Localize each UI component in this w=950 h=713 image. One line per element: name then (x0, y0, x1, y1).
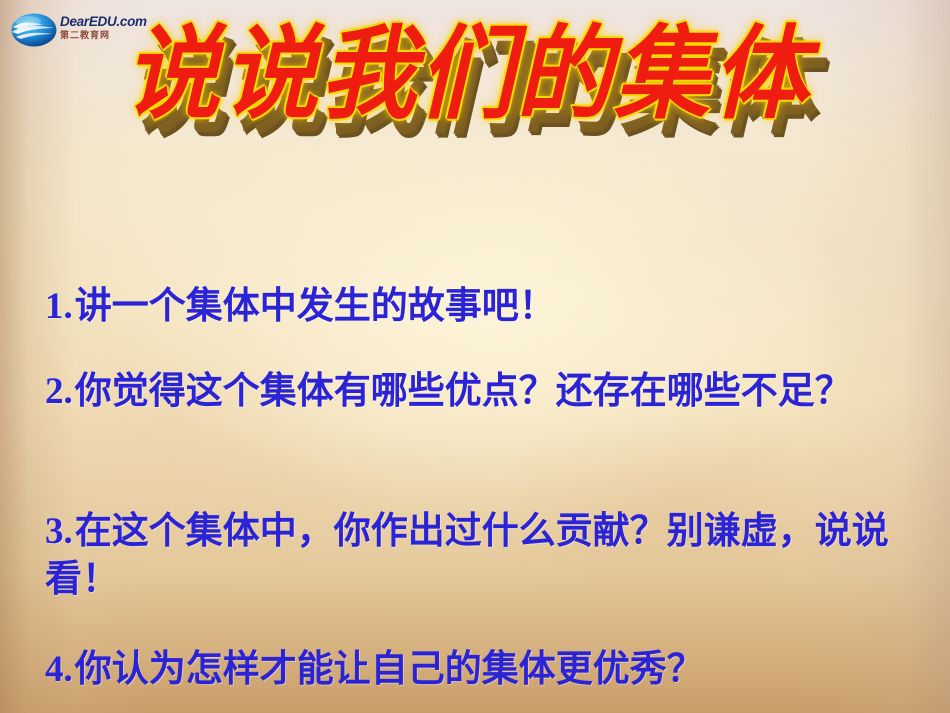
list-item-number: 3. (45, 511, 73, 552)
slide-title: 说说我们的集体 说说我们的集体 (0, 16, 950, 146)
list-item-text: 在这个集体中，你作出过什么贡献？别谦虚，说说看！ (45, 511, 889, 600)
slide-title-face-layer: 说说我们的集体 (0, 12, 950, 137)
list-item-text: 你认为怎样才能让自己的集体更优秀？ (75, 649, 704, 690)
list-item: 1.讲一个集体中发生的故事吧！ (45, 283, 925, 331)
list-item-number: 2. (45, 371, 73, 412)
list-item-number: 4. (45, 649, 73, 690)
list-item-text: 你觉得这个集体有哪些优点？还存在哪些不足？ (75, 371, 852, 412)
list-item-text: 讲一个集体中发生的故事吧！ (75, 286, 556, 327)
presentation-slide: DearEDU.com 第二教育网 说说我们的集体 说说我们的集体 1.讲一个集… (0, 0, 950, 713)
list-item: 4.你认为怎样才能让自己的集体更优秀？ (45, 646, 925, 694)
list-item: 2.你觉得这个集体有哪些优点？还存在哪些不足？ (45, 368, 925, 416)
list-item-number: 1. (45, 286, 73, 327)
list-item: 3.在这个集体中，你作出过什么贡献？别谦虚，说说看！ (45, 508, 925, 604)
